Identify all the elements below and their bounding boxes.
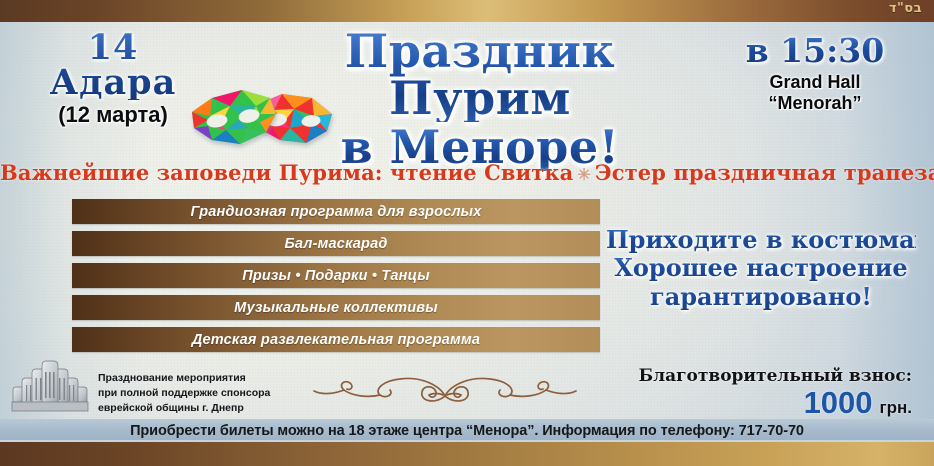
purim-event-poster: בס"ד 14 Адара (12 марта): [0, 0, 934, 466]
top-gradient-bar: בס"ד: [0, 0, 934, 22]
cta-line-2: Хорошее настроение: [606, 254, 916, 282]
donation-amount: 1000: [804, 387, 873, 418]
gregorian-date-text: (12 марта): [18, 104, 208, 126]
program-item-label: Бал-маскарад: [284, 236, 387, 252]
donation-currency: грн.: [880, 398, 912, 418]
sponsor-line-2: при полной поддержке спонсора: [98, 386, 270, 401]
sponsor-line-3: еврейской общины г. Днепр: [98, 401, 270, 416]
cta-line-3: гарантировано!: [606, 283, 916, 311]
star-separator-icon: ✳: [573, 165, 595, 184]
program-item: Музыкальные коллективы: [72, 295, 600, 320]
call-to-action-block: Приходите в костюмах! Хорошее настроение…: [606, 226, 916, 311]
time-venue-block: в 15:30 Grand Hall “Menorah”: [720, 34, 910, 113]
sponsor-text-block: Празднование мероприятия при полной подд…: [98, 358, 270, 417]
event-time-text: в 15:30: [720, 34, 910, 67]
program-item: Призы • Подарки • Танцы: [72, 263, 600, 288]
page-title: Праздник Пурим в Меноре!: [270, 28, 690, 171]
bottom-gradient-bar: [0, 440, 934, 466]
venue-line-2: “Menorah”: [720, 93, 910, 114]
title-line-1: Праздник Пурим: [270, 28, 690, 122]
program-item: Бал-маскарад: [72, 231, 600, 256]
program-item-label: Детская развлекательная программа: [192, 332, 480, 348]
donation-label: Благотворительный взнос:: [639, 366, 912, 386]
flourish-ornament-icon: [300, 366, 590, 406]
tagline-part-1: Важнейшие заповеди Пурима: чтение Свитка: [0, 160, 573, 185]
hebrew-blessing-text: בס"ד: [889, 1, 922, 16]
program-list: Грандиозная программа для взрослых Бал-м…: [72, 199, 600, 359]
program-item-label: Призы • Подарки • Танцы: [242, 268, 430, 284]
donation-amount-row: 1000 грн.: [639, 387, 912, 418]
hebrew-date-text: 14 Адара: [18, 30, 208, 100]
program-item: Грандиозная программа для взрослых: [72, 199, 600, 224]
menorah-center-building-logo-icon: [10, 358, 90, 420]
program-item: Детская развлекательная программа: [72, 327, 600, 352]
program-item-label: Музыкальные коллективы: [234, 300, 438, 316]
tagline-banner: Важнейшие заповеди Пурима: чтение Свитка…: [0, 160, 934, 185]
venue-line-1: Grand Hall: [720, 72, 910, 93]
program-item-label: Грандиозная программа для взрослых: [190, 204, 481, 220]
date-block: 14 Адара (12 марта): [18, 30, 208, 126]
sponsor-line-1: Празднование мероприятия: [98, 371, 270, 386]
cta-line-1: Приходите в костюмах!: [606, 226, 916, 254]
footer-info-band: Приобрести билеты можно на 18 этаже цент…: [0, 419, 934, 442]
donation-block: Благотворительный взнос: 1000 грн.: [639, 366, 912, 418]
sponsor-block: Празднование мероприятия при полной подд…: [10, 358, 270, 420]
footer-text: Приобрести билеты можно на 18 этаже цент…: [130, 423, 804, 439]
tagline-part-2: Эстер праздничная трапеза: [595, 160, 934, 185]
